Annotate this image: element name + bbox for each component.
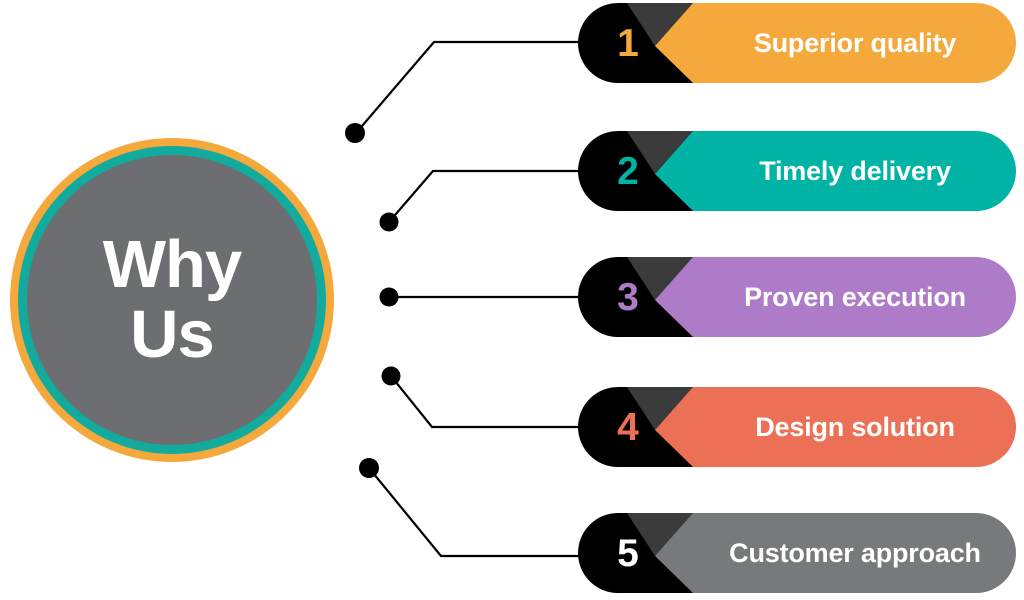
item-label-4: Design solution	[706, 387, 1004, 467]
connector-path-4	[391, 376, 584, 427]
circle-title-line1: Why	[103, 231, 241, 299]
circle-title: Why Us	[10, 138, 334, 462]
connector-dot-2	[380, 213, 399, 232]
item-label-2: Timely delivery	[706, 131, 1004, 211]
item-row-5[interactable]: 5 Customer approach	[578, 513, 1018, 593]
item-number-2: 2	[608, 131, 648, 211]
item-label-3: Proven execution	[706, 257, 1004, 337]
item-number-4: 4	[608, 387, 648, 467]
center-circle: Why Us	[10, 138, 334, 462]
item-number-5: 5	[608, 513, 648, 593]
item-row-4[interactable]: 4 Design solution	[578, 387, 1018, 467]
connector-path-2	[389, 171, 584, 222]
item-label-5: Customer approach	[706, 513, 1004, 593]
item-label-1: Superior quality	[706, 3, 1004, 83]
connector-dot-1	[345, 123, 365, 143]
connector-dot-4	[382, 367, 401, 386]
connector-dot-3	[380, 288, 399, 307]
item-number-1: 1	[608, 3, 648, 83]
connector-path-1	[356, 42, 584, 133]
connector-dot-5	[359, 458, 379, 478]
infographic-canvas: Why Us 1 Superior quality	[0, 0, 1024, 600]
item-number-3: 3	[608, 257, 648, 337]
connector-path-5	[369, 468, 584, 556]
item-row-3[interactable]: 3 Proven execution	[578, 257, 1018, 337]
circle-title-line2: Us	[130, 301, 214, 369]
item-row-1[interactable]: 1 Superior quality	[578, 3, 1018, 83]
item-row-2[interactable]: 2 Timely delivery	[578, 131, 1018, 211]
